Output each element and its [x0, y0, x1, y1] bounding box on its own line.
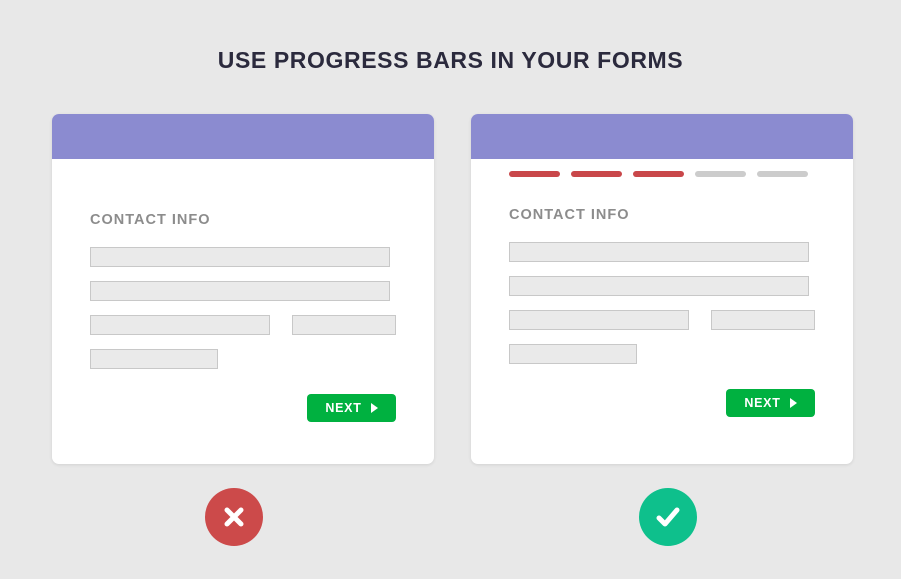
form-row — [509, 310, 815, 330]
error-badge — [205, 488, 263, 546]
section-label: CONTACT INFO — [90, 159, 396, 228]
input-field[interactable] — [509, 276, 809, 296]
card-body: CONTACT INFO — [52, 159, 434, 369]
card-header-bar — [52, 114, 434, 159]
input-field[interactable] — [711, 310, 815, 330]
section-label: CONTACT INFO — [509, 177, 815, 223]
progress-segment-5 — [757, 171, 808, 177]
input-field[interactable] — [90, 247, 390, 267]
next-button[interactable]: NEXT — [726, 389, 815, 417]
progress-segment-2 — [571, 171, 622, 177]
form-fields — [90, 247, 396, 369]
progress-segment-3 — [633, 171, 684, 177]
input-field[interactable] — [509, 242, 809, 262]
play-icon — [371, 403, 378, 413]
cross-icon — [219, 502, 249, 532]
form-row — [90, 315, 396, 335]
card-footer: NEXT — [471, 389, 853, 417]
progress-segment-1 — [509, 171, 560, 177]
card-footer: NEXT — [52, 394, 434, 422]
form-card-with-progress: CONTACT INFO NEXT — [471, 114, 853, 464]
page-title: USE PROGRESS BARS IN YOUR FORMS — [0, 47, 901, 74]
form-fields — [509, 242, 815, 364]
form-card-without-progress: CONTACT INFO NEXT — [52, 114, 434, 464]
form-row — [509, 276, 815, 296]
input-field[interactable] — [509, 344, 637, 364]
play-icon — [790, 398, 797, 408]
card-header-bar — [471, 114, 853, 159]
next-button[interactable]: NEXT — [307, 394, 396, 422]
progress-segment-4 — [695, 171, 746, 177]
success-badge — [639, 488, 697, 546]
form-row — [509, 242, 815, 262]
verdict-badges — [0, 488, 901, 548]
next-button-label: NEXT — [325, 401, 361, 415]
form-row — [90, 349, 396, 369]
form-row — [509, 344, 815, 364]
form-row — [90, 247, 396, 267]
input-field[interactable] — [292, 315, 396, 335]
card-body: CONTACT INFO — [471, 177, 853, 364]
input-field[interactable] — [90, 349, 218, 369]
input-field[interactable] — [90, 315, 270, 335]
input-field[interactable] — [509, 310, 689, 330]
check-icon — [652, 501, 684, 533]
next-button-label: NEXT — [744, 396, 780, 410]
form-row — [90, 281, 396, 301]
input-field[interactable] — [90, 281, 390, 301]
comparison-cards: CONTACT INFO NEXT — [0, 114, 901, 464]
